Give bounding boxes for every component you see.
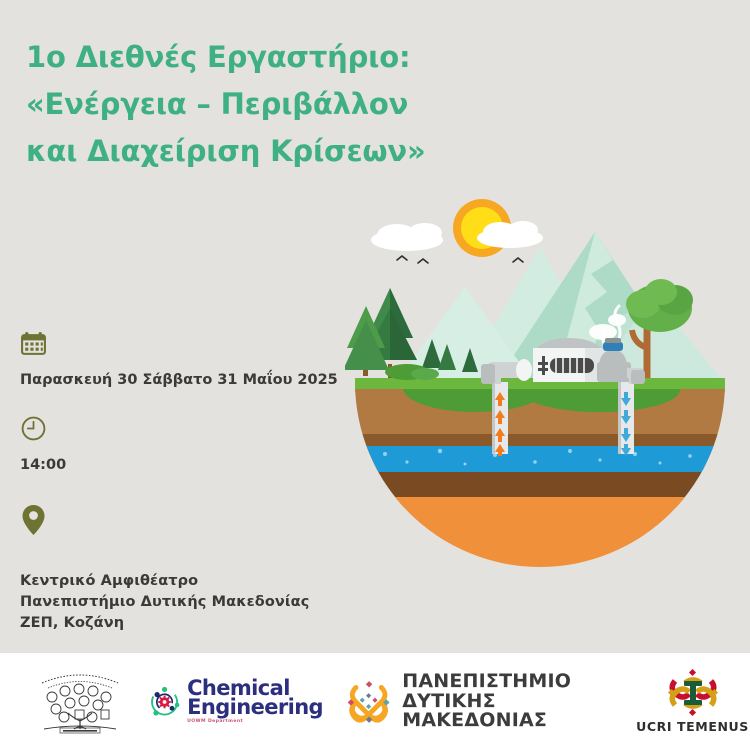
event-location-group: Κεντρικό Αμφιθέατρο Πανεπιστήμιο Δυτικής… (20, 504, 350, 634)
chemical-engineering-mark (148, 673, 181, 731)
event-details: Παρασκευή 30 Σάββατο 31 Μαΐου 2025 14:00 (20, 330, 350, 638)
ucri-temenus-text: UCRI TEMENUS (636, 719, 749, 734)
map-pin-icon (20, 504, 350, 540)
event-location-line-2: Πανεπιστήμιο Δυτικής Μακεδονίας (20, 592, 350, 613)
poster-canvas: 1ο Διεθνές Εργαστήριο: «Ενέργεια – Περιβ… (0, 0, 750, 750)
footer-logo-bar: Chemical Engineering UOWM Department (0, 653, 750, 750)
event-location-line-3: ΖΕΠ, Κοζάνη (20, 613, 350, 634)
university-of-western-macedonia-logo: ΠΑΝΕΠΙΣΤΗΜΙΟ ΔΥΤΙΚΗΣ ΜΑΚΕΔΟΝΙΑΣ (345, 653, 625, 750)
title-line-1: 1ο Διεθνές Εργαστήριο: (26, 34, 496, 81)
geothermal-energy-illustration (345, 192, 735, 592)
institute-tree-logo (27, 653, 133, 750)
uowm-knot-mark (345, 676, 392, 728)
uowm-logo-line-1: ΠΑΝΕΠΙΣΤΗΜΙΟ (402, 672, 625, 692)
injection-well (618, 382, 634, 456)
chem-logo-line-2: Engineering (187, 697, 323, 718)
underground-cross-section (345, 375, 735, 587)
chem-logo-subtitle: UOWM Department (187, 720, 323, 725)
production-well (492, 382, 508, 456)
clock-icon (20, 415, 350, 446)
birds (397, 256, 523, 263)
uowm-logo-line-2: ΔΥΤΙΚΗΣ ΜΑΚΕΔΟΝΙΑΣ (402, 692, 625, 732)
chemical-engineering-logo: Chemical Engineering UOWM Department (148, 653, 323, 750)
page-title: 1ο Διεθνές Εργαστήριο: «Ενέργεια – Περιβ… (26, 34, 496, 175)
event-date-group: Παρασκευή 30 Σάββατο 31 Μαΐου 2025 (20, 330, 350, 391)
event-location-line-1: Κεντρικό Αμφιθέατρο (20, 571, 350, 592)
title-line-2: «Ενέργεια – Περιβάλλον (26, 81, 496, 128)
event-time-text: 14:00 (20, 455, 350, 476)
ucri-temenus-mark (665, 669, 721, 717)
event-date-text: Παρασκευή 30 Σάββατο 31 Μαΐου 2025 (20, 370, 350, 391)
event-time-group: 14:00 (20, 415, 350, 476)
calendar-icon (20, 330, 350, 361)
ucri-temenus-logo: UCRI TEMENUS (640, 653, 745, 750)
title-line-3: και Διαχείριση Κρίσεων» (26, 128, 496, 175)
